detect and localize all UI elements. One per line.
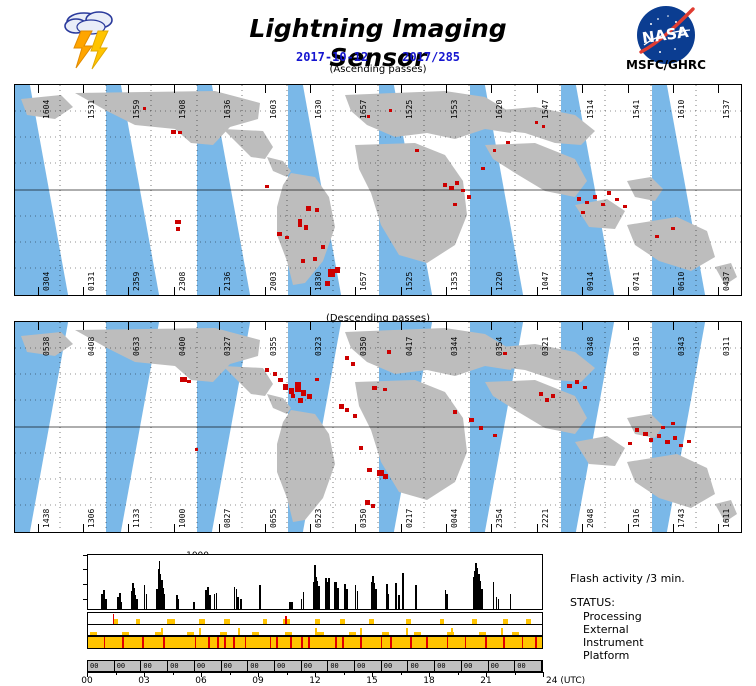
platform-cell: 00 (168, 661, 195, 671)
tick-time-label: 1604 (42, 100, 51, 119)
tick-mark (219, 287, 220, 295)
status-marker (501, 628, 503, 635)
tick-mark (38, 287, 39, 295)
tick-time-label: 1541 (632, 100, 641, 119)
page-header: Lightning Imaging Sensor 2017-10-122017/… (0, 0, 756, 78)
platform-cell: 00 (88, 661, 115, 671)
tick-mark (537, 85, 538, 93)
tick-time-label: 2048 (586, 509, 595, 528)
date-iso: 2017-10-12 (296, 50, 368, 64)
tick-time-label: 0538 (42, 337, 51, 356)
x-axis-label: 21 (480, 676, 491, 686)
status-marker (233, 637, 235, 648)
flash-bar (446, 594, 448, 609)
platform-cell: 00 (248, 661, 275, 671)
tick-time-label: 0523 (314, 509, 323, 528)
tick-mark (537, 287, 538, 295)
flash-bar (291, 602, 293, 609)
date-doy: 2017/285 (402, 50, 460, 64)
tick-time-label: 1438 (42, 509, 51, 528)
x-axis-label: 03 (138, 676, 149, 686)
tick-time-label: 2136 (223, 272, 232, 291)
status-marker (342, 637, 344, 648)
tick-mark (355, 287, 356, 295)
flash-bar (318, 586, 320, 609)
tick-time-label: 0321 (541, 337, 550, 356)
platform-cell: 00 (195, 661, 222, 671)
tick-time-label: 0304 (42, 272, 51, 291)
tick-time-label: 1559 (132, 100, 141, 119)
platform-cell: 00 (462, 661, 489, 671)
x-axis-label: 00 (81, 676, 92, 686)
flash-bar (216, 593, 218, 609)
ascending-caption: (Ascending passes) (208, 64, 548, 75)
tick-mark (219, 85, 220, 93)
status-marker (382, 632, 389, 635)
tick-mark (491, 524, 492, 532)
flash-activity-plot-area (87, 554, 543, 610)
tick-mark (628, 287, 629, 295)
tick-mark (310, 287, 311, 295)
tick-time-label: 1611 (722, 509, 731, 528)
status-marker (410, 637, 412, 648)
x-axis-tick (543, 672, 544, 677)
tick-time-label: 1603 (269, 100, 278, 119)
status-marker (276, 637, 278, 648)
flash-bar (337, 588, 339, 609)
tick-time-label: 0343 (677, 337, 686, 356)
tick-mark (265, 524, 266, 532)
tick-mark (38, 524, 39, 532)
status-marker (535, 637, 537, 648)
tick-mark (355, 524, 356, 532)
tick-mark (128, 85, 129, 93)
tick-mark (491, 322, 492, 330)
tick-mark (582, 287, 583, 295)
tick-mark (582, 85, 583, 93)
tick-time-label: 0610 (677, 272, 686, 291)
status-marker (426, 637, 428, 648)
tick-mark (128, 524, 129, 532)
tick-time-label: 0655 (269, 509, 278, 528)
tick-time-label: 0827 (223, 509, 232, 528)
tick-time-label: 2221 (541, 509, 550, 528)
tick-time-label: 1531 (87, 100, 96, 119)
tick-mark (718, 524, 719, 532)
flash-bar (357, 591, 359, 609)
status-marker (381, 637, 383, 648)
tick-time-label: 0355 (269, 337, 278, 356)
platform-cell: 00 (355, 661, 382, 671)
tick-mark (83, 287, 84, 295)
platform-cell: 00 (115, 661, 142, 671)
nasa-center-label: MSFC/GHRC (608, 58, 724, 72)
status-marker (270, 637, 272, 648)
flash-bar (493, 582, 495, 609)
flash-bar (387, 594, 389, 609)
flash-bar (303, 592, 305, 609)
tick-time-label: 1620 (495, 100, 504, 119)
tick-mark (718, 287, 719, 295)
status-marker (104, 637, 106, 648)
status-marker (217, 637, 219, 648)
status-marker (390, 637, 392, 648)
status-marker (285, 632, 292, 635)
status-marker (245, 637, 247, 648)
tick-time-label: 1220 (495, 272, 504, 291)
status-marker (142, 637, 144, 648)
platform-cell: 00 (515, 661, 542, 671)
status-marker (451, 628, 453, 635)
tick-mark (401, 85, 402, 93)
platform-cell: 00 (435, 661, 462, 671)
x-axis-minor-tick (230, 672, 231, 675)
tick-mark (673, 322, 674, 330)
tick-time-label: 0344 (450, 337, 459, 356)
tick-time-label: 0044 (450, 509, 459, 528)
status-marker (199, 628, 201, 635)
tick-mark (718, 85, 719, 93)
legend-external: External (583, 623, 629, 636)
status-marker (360, 637, 362, 648)
flash-bar (237, 597, 239, 609)
x-axis-minor-tick (287, 672, 288, 675)
x-axis-label: 09 (252, 676, 263, 686)
tick-time-label: 1508 (178, 100, 187, 119)
flash-bar (146, 594, 148, 609)
status-marker (485, 637, 487, 648)
tick-time-label: 1525 (405, 100, 414, 119)
tick-time-label: 0131 (87, 272, 96, 291)
tick-time-label: 1610 (677, 100, 686, 119)
status-marker (252, 632, 259, 635)
tick-mark (446, 524, 447, 532)
tick-time-label: 1630 (314, 100, 323, 119)
tick-mark (446, 322, 447, 330)
tick-mark (265, 85, 266, 93)
tick-time-label: 0437 (722, 272, 731, 291)
x-axis-label: 18 (423, 676, 434, 686)
tick-mark (38, 322, 39, 330)
tick-mark (537, 524, 538, 532)
tick-time-label: 0311 (722, 337, 731, 356)
tick-time-label: 0217 (405, 509, 414, 528)
tick-time-label: 1830 (314, 272, 323, 291)
tick-time-label: 2354 (495, 509, 504, 528)
status-marker (90, 632, 97, 635)
tick-mark (401, 524, 402, 532)
flash-bar (178, 599, 180, 609)
tick-mark (446, 287, 447, 295)
flash-bar (240, 599, 242, 609)
tick-mark (83, 524, 84, 532)
tick-mark (401, 322, 402, 330)
tick-mark (673, 524, 674, 532)
platform-cells: 0000000000000000000000000000000000 (87, 660, 543, 672)
tick-mark (582, 322, 583, 330)
platform-cell: 00 (382, 661, 409, 671)
platform-cell: 00 (302, 661, 329, 671)
status-marker (308, 637, 310, 648)
status-marker (414, 632, 421, 635)
status-external-row (87, 624, 543, 636)
tick-mark (310, 322, 311, 330)
tick-mark (174, 85, 175, 93)
legend-instrument: Instrument (583, 636, 644, 649)
status-marker (122, 637, 124, 648)
tick-time-label: 0400 (178, 337, 187, 356)
tick-mark (83, 85, 84, 93)
tick-mark (174, 287, 175, 295)
tick-time-label: 1657 (359, 100, 368, 119)
x-axis-minor-tick (173, 672, 174, 675)
tick-time-label: 0316 (632, 337, 641, 356)
status-marker (503, 637, 505, 648)
tick-mark (83, 322, 84, 330)
flash-bar (481, 589, 483, 609)
flash-bar (498, 599, 500, 609)
tick-time-label: 0327 (223, 337, 232, 356)
tick-mark (718, 322, 719, 330)
tick-time-label: 0350 (359, 337, 368, 356)
status-marker (447, 637, 449, 648)
status-marker (208, 637, 210, 648)
status-marker (122, 632, 129, 635)
descending-pass-map[interactable]: 0538040806330400032703550323035004170344… (14, 321, 742, 533)
tick-mark (628, 322, 629, 330)
tick-time-label: 0741 (632, 272, 641, 291)
date-line: 2017-10-122017/285 (208, 50, 548, 64)
flash-bar (259, 585, 261, 609)
tick-mark (128, 322, 129, 330)
tick-mark (310, 524, 311, 532)
x-axis-minor-tick (401, 672, 402, 675)
tick-time-label: 1553 (450, 100, 459, 119)
tick-time-label: 1636 (223, 100, 232, 119)
status-processing-row (87, 612, 543, 624)
tick-time-label: 2003 (269, 272, 278, 291)
flash-bar (395, 583, 397, 609)
status-marker (479, 632, 486, 635)
tick-mark (491, 85, 492, 93)
status-marker (465, 637, 467, 648)
x-axis-unit-label: 24 (UTC) (546, 676, 585, 686)
tick-time-label: 1306 (87, 509, 96, 528)
tick-time-label: 0914 (586, 272, 595, 291)
tick-mark (265, 287, 266, 295)
tick-mark (355, 85, 356, 93)
status-marker (161, 628, 163, 635)
flash-bar (105, 599, 107, 609)
legend-processing: Processing (583, 610, 642, 623)
tick-time-label: 1525 (405, 272, 414, 291)
tick-mark (310, 85, 311, 93)
platform-cell: 00 (275, 661, 302, 671)
tick-mark (446, 85, 447, 93)
status-marker (315, 628, 317, 635)
tick-mark (38, 85, 39, 93)
status-marker (224, 637, 226, 648)
x-axis-label: 06 (195, 676, 206, 686)
x-axis-minor-tick (458, 672, 459, 675)
tick-mark (673, 287, 674, 295)
flash-bar (121, 602, 123, 609)
tick-mark (401, 287, 402, 295)
tick-time-label: 0348 (586, 337, 595, 356)
flash-bar (136, 599, 138, 609)
status-marker (335, 637, 337, 648)
x-axis-minor-tick (515, 672, 516, 675)
platform-cell: 00 (408, 661, 435, 671)
flash-bar (398, 595, 400, 609)
tick-mark (355, 322, 356, 330)
tick-time-label: 2308 (178, 272, 187, 291)
tick-mark (265, 322, 266, 330)
legend-flash-activity: Flash activity /3 min. (570, 572, 685, 585)
tick-mark (219, 524, 220, 532)
platform-cell: 00 (141, 661, 168, 671)
status-marker (349, 632, 356, 635)
tick-time-label: 1047 (541, 272, 550, 291)
tick-time-label: 0633 (132, 337, 141, 356)
tick-time-label: 1537 (722, 100, 731, 119)
flash-bar (346, 589, 348, 609)
status-marker (360, 628, 362, 635)
status-marker (512, 632, 519, 635)
tick-mark (673, 85, 674, 93)
tick-time-label: 1743 (677, 509, 686, 528)
x-axis-minor-tick (344, 672, 345, 675)
tick-mark (219, 322, 220, 330)
flash-bar (164, 594, 166, 609)
tick-mark (628, 85, 629, 93)
tick-time-label: 1353 (450, 272, 459, 291)
x-axis-minor-tick (116, 672, 117, 675)
tick-mark (582, 524, 583, 532)
status-marker (285, 616, 287, 624)
tick-time-label: 1657 (359, 272, 368, 291)
tick-time-label: 0323 (314, 337, 323, 356)
platform-cell: 00 (489, 661, 516, 671)
tick-mark (537, 322, 538, 330)
platform-cell: 00 (222, 661, 249, 671)
status-marker (195, 637, 197, 648)
tick-time-label: 1000 (178, 509, 187, 528)
flash-bar (328, 578, 330, 609)
tick-mark (128, 287, 129, 295)
legend-platform: Platform (583, 649, 629, 662)
status-marker (301, 637, 303, 648)
status-marker (220, 632, 227, 635)
status-marker (290, 637, 292, 648)
tick-time-label: 1547 (541, 100, 550, 119)
x-axis-label: 15 (366, 676, 377, 686)
flash-bar (375, 589, 377, 609)
x-axis-label: 12 (309, 676, 320, 686)
tick-time-label: 1916 (632, 509, 641, 528)
status-marker (317, 632, 324, 635)
status-marker (522, 637, 524, 648)
tick-mark (628, 524, 629, 532)
thunderstorm-icon (58, 6, 126, 72)
tick-time-label: 0354 (495, 337, 504, 356)
tick-time-label: 1514 (586, 100, 595, 119)
status-marker (163, 637, 165, 648)
flash-bar (415, 585, 417, 609)
flash-bar (510, 594, 512, 609)
status-marker (238, 628, 240, 635)
status-marker (406, 628, 408, 635)
ascending-pass-map[interactable]: 1604153115591508163616031630165715251553… (14, 84, 742, 296)
legend-status-header: STATUS: (570, 596, 615, 609)
flash-bar (209, 595, 211, 609)
status-instrument-row (87, 636, 543, 649)
status-marker (113, 614, 115, 624)
tick-mark (491, 287, 492, 295)
tick-time-label: 1133 (132, 509, 141, 528)
tick-time-label: 0350 (359, 509, 368, 528)
flash-bar (193, 602, 195, 609)
platform-cell: 00 (328, 661, 355, 671)
flash-bar (402, 573, 404, 609)
tick-time-label: 0408 (87, 337, 96, 356)
tick-time-label: 0417 (405, 337, 414, 356)
tick-time-label: 2359 (132, 272, 141, 291)
tick-mark (174, 524, 175, 532)
status-marker (187, 632, 194, 635)
tick-mark (174, 322, 175, 330)
flash-activity-chart[interactable]: 1000 100 10 1 00000000000000000000000000… (0, 550, 756, 680)
